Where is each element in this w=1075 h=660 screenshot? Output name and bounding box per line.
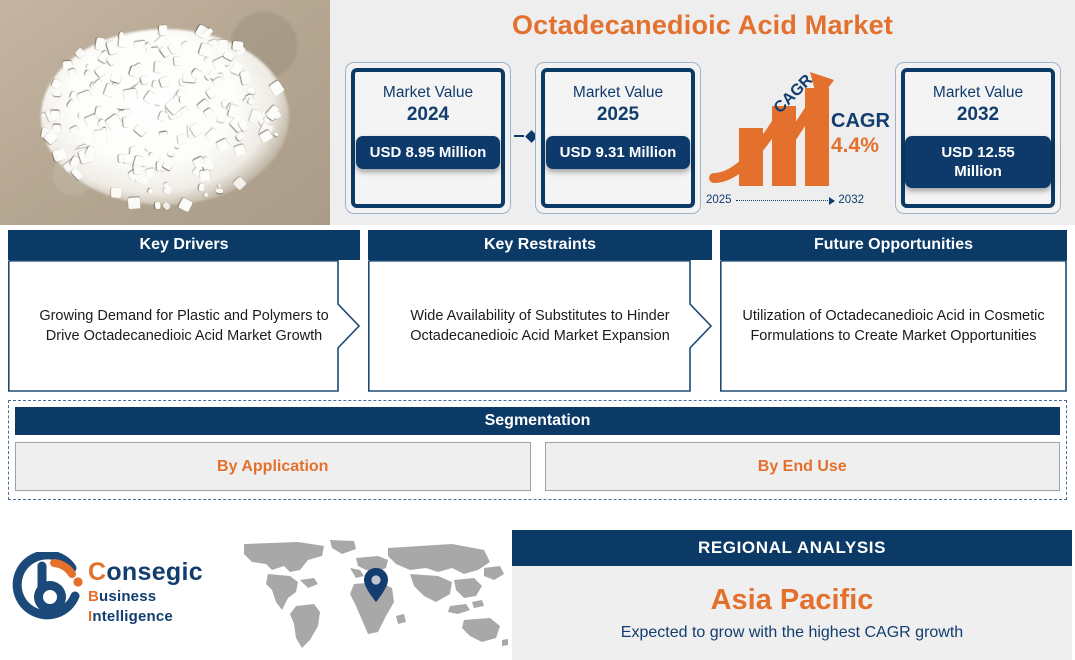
cagr-year-range: 2025 2032: [706, 194, 864, 206]
segmentation-item-by-end-use[interactable]: By End Use: [545, 442, 1061, 491]
segmentation-section: Segmentation By Application By End Use: [8, 400, 1067, 500]
logo-name-initial: C: [88, 558, 106, 586]
panel-key-drivers: Key Drivers Growing Demand for Plastic a…: [8, 230, 360, 392]
logo-tagline-intelligence: ntelligence: [92, 608, 173, 625]
consegic-logo-icon: [12, 552, 84, 624]
market-value-year: 2024: [407, 103, 449, 127]
cagr-block: CAGR CAGR 4.4% 2025 2032: [706, 66, 896, 214]
product-photo: [0, 0, 330, 225]
top-band: Octadecanedioic Acid Market Market Value…: [0, 0, 1075, 225]
market-value-amount: USD 8.95 Million: [356, 136, 501, 169]
panel-heading: Future Opportunities: [720, 230, 1067, 260]
chemical-flakes-image: [31, 19, 299, 215]
world-map-icon: [238, 540, 510, 652]
regional-analysis-block: REGIONAL ANALYSIS Asia Pacific Expected …: [512, 530, 1072, 660]
cagr-start-year: 2025: [706, 194, 732, 206]
infographic-root: Octadecanedioic Acid Market Market Value…: [0, 0, 1075, 660]
cagr-text: CAGR 4.4%: [831, 110, 890, 158]
segmentation-items: By Application By End Use: [15, 442, 1060, 491]
cagr-value: 4.4%: [831, 133, 890, 158]
logo-name: Consegic: [88, 558, 244, 587]
footer: Consegic Business Intelligence: [0, 512, 1075, 660]
connector-2024-2025: [514, 131, 536, 141]
regional-analysis-heading: REGIONAL ANALYSIS: [512, 530, 1072, 566]
page-title: Octadecanedioic Acid Market: [330, 10, 1075, 41]
panel-heading: Key Drivers: [8, 230, 360, 260]
market-value-year: 2032: [957, 103, 999, 127]
panel-text: Growing Demand for Plastic and Polymers …: [24, 306, 344, 346]
market-value-amount: USD 9.31 Million: [546, 136, 691, 169]
market-value-label: Market Value: [933, 83, 1023, 102]
cagr-title: CAGR: [831, 110, 890, 133]
panel-body: Wide Availability of Substitutes to Hind…: [368, 260, 712, 392]
panel-key-restraints: Key Restraints Wide Availability of Subs…: [368, 230, 712, 392]
logo-tagline-b: B: [88, 588, 99, 605]
market-value-card-2024: Market Value 2024 USD 8.95 Million: [345, 62, 511, 214]
logo-tagline: Business Intelligence: [88, 587, 244, 627]
cagr-chart-label: CAGR: [771, 71, 817, 117]
panel-text: Utilization of Octadecanedioic Acid in C…: [736, 306, 1051, 346]
market-value-card-2025: Market Value 2025 USD 9.31 Million: [535, 62, 701, 214]
region-note: Expected to grow with the highest CAGR g…: [621, 623, 963, 643]
segmentation-item-by-application[interactable]: By Application: [15, 442, 531, 491]
logo-tagline-business: usiness: [99, 588, 156, 605]
region-name: Asia Pacific: [711, 583, 874, 617]
market-value-card-2032: Market Value 2032 USD 12.55 Million: [895, 62, 1061, 214]
panel-body: Growing Demand for Plastic and Polymers …: [8, 260, 360, 392]
panel-body: Utilization of Octadecanedioic Acid in C…: [720, 260, 1067, 392]
insights-row: Key Drivers Growing Demand for Plastic a…: [0, 230, 1075, 392]
logo-name-rest: onsegic: [106, 558, 203, 586]
market-value-year: 2025: [597, 103, 639, 127]
company-logo: Consegic Business Intelligence: [12, 550, 244, 628]
panel-heading: Key Restraints: [368, 230, 712, 260]
cagr-range-arrow-icon: [736, 200, 835, 201]
connector-line: [514, 135, 524, 137]
panel-text: Wide Availability of Substitutes to Hind…: [384, 306, 696, 346]
regional-analysis-body: Asia Pacific Expected to grow with the h…: [512, 566, 1072, 660]
market-value-label: Market Value: [383, 83, 473, 102]
market-value-label: Market Value: [573, 83, 663, 102]
cagr-end-year: 2032: [838, 194, 864, 206]
top-right-panel: Octadecanedioic Acid Market Market Value…: [330, 0, 1075, 225]
panel-future-opportunities: Future Opportunities Utilization of Octa…: [720, 230, 1067, 392]
logo-wordmark: Consegic Business Intelligence: [88, 558, 244, 627]
segmentation-heading: Segmentation: [15, 407, 1060, 435]
market-value-amount: USD 12.55 Million: [905, 136, 1051, 188]
